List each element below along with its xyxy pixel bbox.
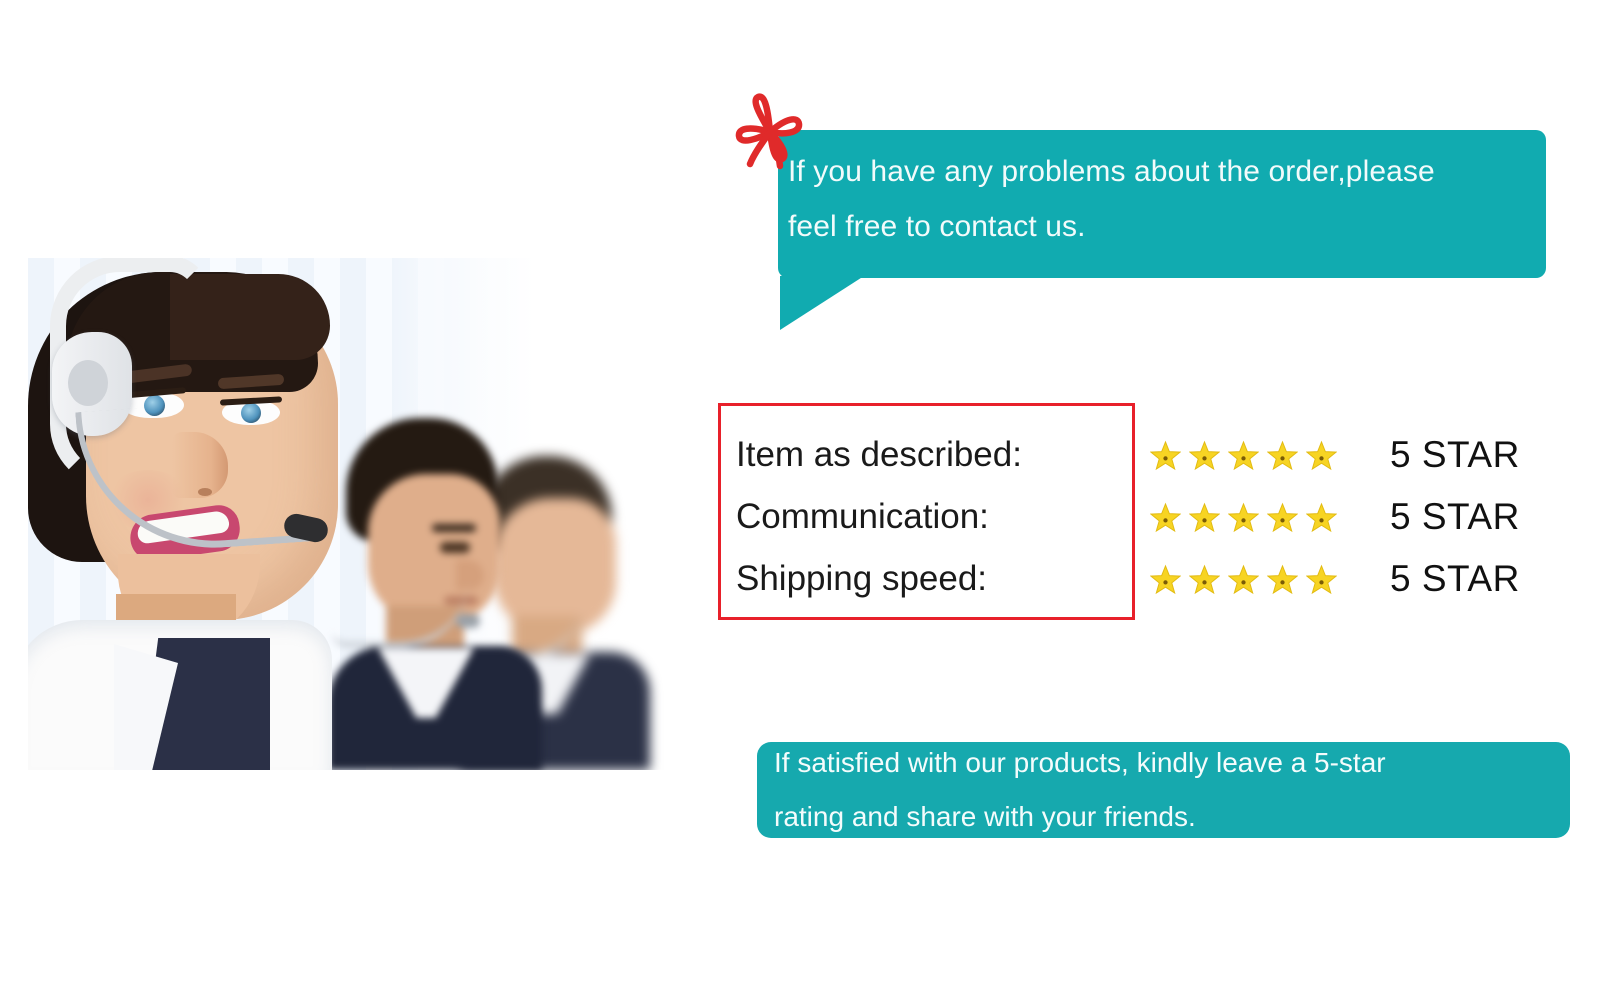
star-icon [1189, 502, 1220, 533]
star-icon [1150, 502, 1181, 533]
rating-value-item-as-described: 5 STAR [1390, 434, 1520, 476]
star-rating-shipping-speed [1150, 564, 1346, 595]
star-icon [1306, 564, 1337, 595]
contact-us-text: If you have any problems about the order… [788, 144, 1540, 254]
ribbon-bow-icon [724, 86, 816, 178]
star-icon [1189, 564, 1220, 595]
rating-label-item-as-described: Item as described: [736, 424, 1126, 486]
rating-value-shipping-speed: 5 STAR [1390, 558, 1520, 600]
star-icon [1150, 564, 1181, 595]
leave-rating-text: If satisfied with our products, kindly l… [774, 736, 1564, 844]
star-rating-item-as-described [1150, 440, 1346, 471]
rating-row-communication: 5 STAR [1150, 486, 1550, 548]
rating-value-communication: 5 STAR [1390, 496, 1520, 538]
headset-mic-icon [456, 614, 480, 628]
star-rating-communication [1150, 502, 1346, 533]
star-icon [1267, 502, 1298, 533]
star-icon [1228, 564, 1259, 595]
rating-label-shipping-speed: Shipping speed: [736, 548, 1126, 610]
star-icon [1267, 440, 1298, 471]
rating-label-communication: Communication: [736, 486, 1126, 548]
star-icon [1306, 440, 1337, 471]
rating-row-shipping-speed: 5 STAR [1150, 548, 1550, 610]
rating-value-column: 5 STAR 5 STAR 5 STAR [1150, 424, 1550, 610]
customer-service-team-photo [28, 258, 679, 770]
star-icon [1267, 564, 1298, 595]
star-icon [1306, 502, 1337, 533]
rating-row-item-as-described: 5 STAR [1150, 424, 1550, 486]
agent-one-foreground [28, 264, 382, 770]
rating-label-column: Item as described: Communication: Shippi… [736, 424, 1126, 610]
star-icon [1228, 440, 1259, 471]
promo-banner: If you have any problems about the order… [0, 0, 1600, 1000]
speech-bubble-tail [780, 276, 864, 330]
star-icon [1228, 502, 1259, 533]
star-icon [1189, 440, 1220, 471]
star-icon [1150, 440, 1181, 471]
